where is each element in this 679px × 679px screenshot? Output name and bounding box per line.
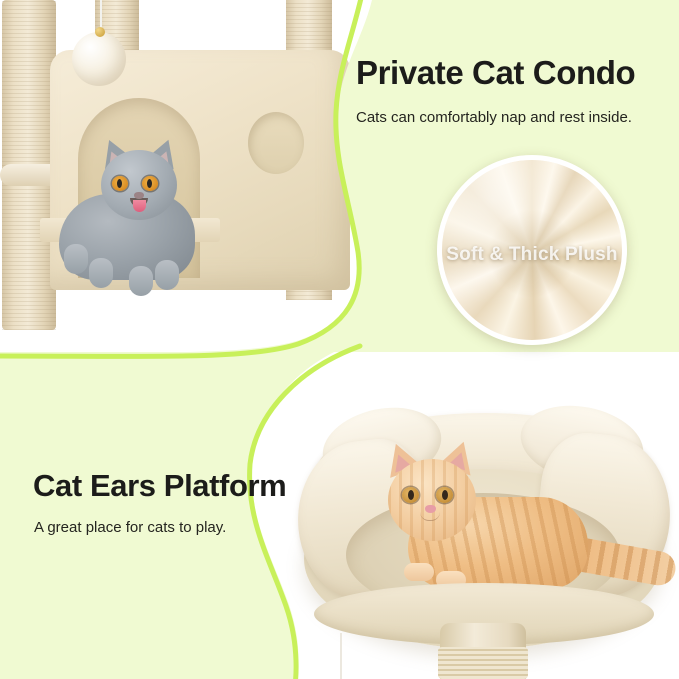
feature-subtitle-cat-ears-platform: A great place for cats to play. bbox=[34, 518, 226, 538]
orange-cat-paw bbox=[404, 563, 434, 581]
orange-cat-pupil bbox=[408, 490, 414, 500]
pom-pom-toy bbox=[72, 32, 126, 86]
grey-cat-pupil bbox=[147, 179, 152, 188]
grey-cat-paw bbox=[129, 266, 153, 296]
grey-cat bbox=[55, 148, 215, 313]
dangling-string bbox=[340, 633, 342, 679]
feature-title-private-cat-condo: Private Cat Condo bbox=[356, 56, 635, 91]
grey-cat-pupil bbox=[117, 179, 122, 188]
platform-sisal-wrap bbox=[438, 647, 528, 679]
soft-thick-plush-inset: Soft & Thick Plush bbox=[437, 155, 627, 345]
private-cat-condo-photo bbox=[0, 0, 372, 352]
grey-cat-paw bbox=[89, 258, 113, 288]
grey-cat-paw bbox=[155, 260, 179, 290]
infographic-root: Soft & Thick Plush Private Cat Condo Cat… bbox=[0, 0, 679, 679]
feature-title-cat-ears-platform: Cat Ears Platform bbox=[33, 470, 286, 503]
pom-pom-bead bbox=[95, 27, 105, 37]
cat-ears-platform-illustration bbox=[288, 385, 679, 679]
feature-subtitle-private-cat-condo: Cats can comfortably nap and rest inside… bbox=[356, 108, 632, 128]
orange-cat-pupil bbox=[442, 490, 448, 500]
orange-cat-head-stripes bbox=[388, 459, 476, 541]
grey-cat-paw bbox=[64, 244, 88, 274]
grey-cat-nose bbox=[134, 192, 144, 199]
plush-inset-label: Soft & Thick Plush bbox=[442, 244, 622, 266]
orange-cat-nose bbox=[425, 505, 436, 513]
condo-porthole bbox=[248, 112, 304, 174]
